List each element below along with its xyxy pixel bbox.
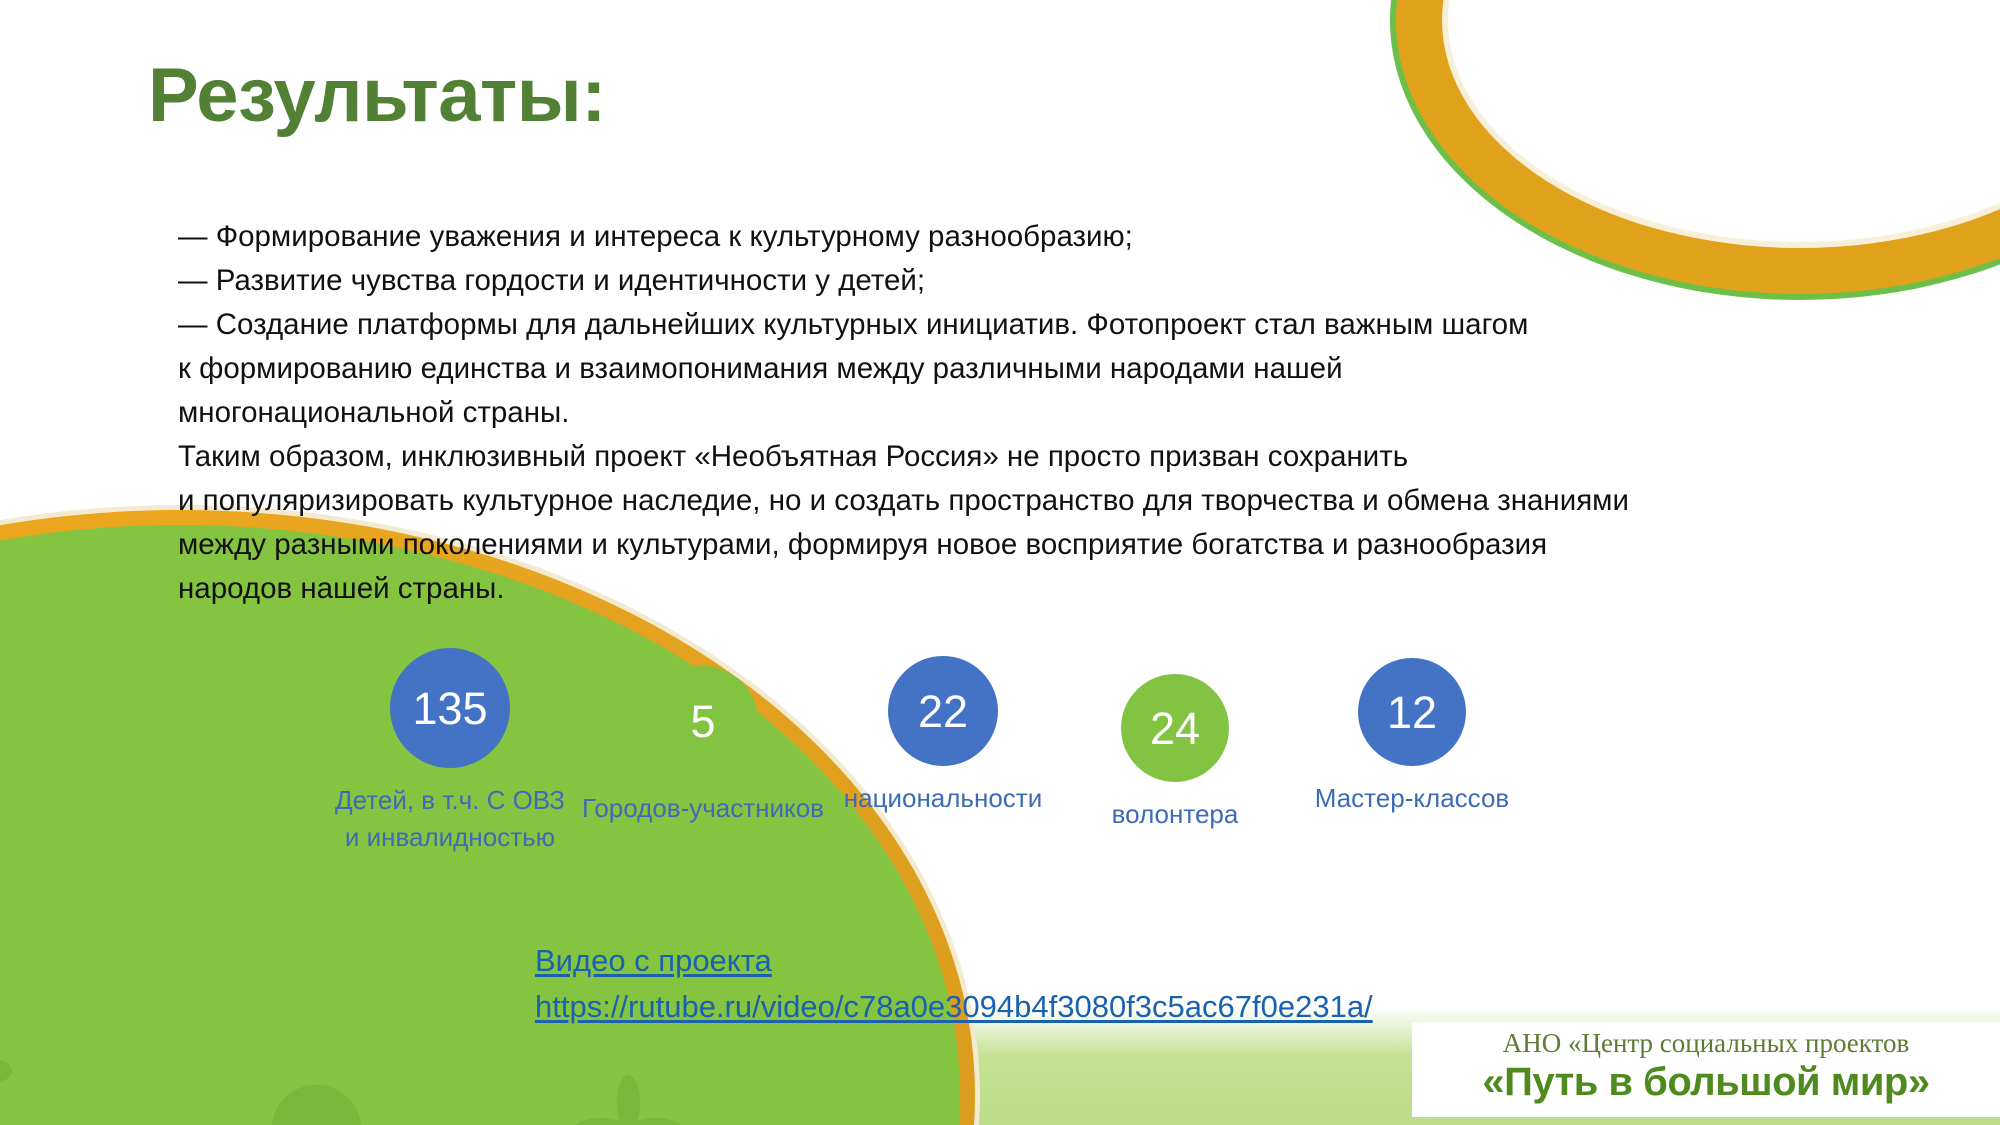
stats-row: 135Детей, в т.ч. С ОВЗи инвалидностью5Го… (330, 648, 1710, 908)
logo-project-name: «Путь в большой мир» (1432, 1060, 1980, 1105)
body-line: — Развитие чувства гордости и идентичнос… (178, 259, 1878, 303)
stat-label: Мастер-классов (1292, 780, 1532, 817)
body-line: Таким образом, инклюзивный проект «Необъ… (178, 435, 1878, 479)
stat-item: 22национальности (828, 656, 1058, 817)
video-url-link[interactable]: https://rutube.ru/video/c78a0e3094b4f308… (535, 984, 1373, 1030)
stat-label: Городов-участников (578, 790, 828, 827)
body-line: — Формирование уважения и интереса к кул… (178, 215, 1878, 259)
body-line: и популяризировать культурное наследие, … (178, 479, 1878, 523)
stat-item: 12Мастер-классов (1292, 658, 1532, 817)
stat-item: 5Городов-участников (578, 666, 828, 827)
arc-cream-ring (1442, 0, 2000, 248)
results-body-text: — Формирование уважения и интереса к кул… (178, 215, 1878, 611)
body-line: народов нашей страны. (178, 567, 1878, 611)
video-caption-link[interactable]: Видео с проекта (535, 938, 1373, 984)
stat-item: 24волонтера (1070, 674, 1280, 833)
stat-item: 135Детей, в т.ч. С ОВЗи инвалидностью (330, 648, 570, 856)
arc-white-fill (1448, 0, 2000, 242)
logo-org-name: АНО «Центр социальных проектов (1432, 1028, 1980, 1060)
body-line: — Создание платформы для дальнейших куль… (178, 303, 1878, 347)
body-line: между разными поколениями и культурами, … (178, 523, 1878, 567)
body-line: многонациональной страны. (178, 391, 1878, 435)
stat-value-bubble: 12 (1358, 658, 1466, 766)
stat-value-bubble: 24 (1121, 674, 1229, 782)
stat-value-bubble: 135 (390, 648, 510, 768)
video-link-block[interactable]: Видео с проекта https://rutube.ru/video/… (535, 938, 1373, 1030)
stat-label: волонтера (1070, 796, 1280, 833)
stat-label: Детей, в т.ч. С ОВЗи инвалидностью (330, 782, 570, 856)
stat-value-bubble: 5 (648, 666, 758, 776)
body-line: к формированию единства и взаимопонимани… (178, 347, 1878, 391)
page-title: Результаты: (148, 52, 606, 139)
organization-logo: АНО «Центр социальных проектов «Путь в б… (1412, 1022, 2000, 1117)
stat-value-bubble: 22 (888, 656, 998, 766)
stat-label: национальности (828, 780, 1058, 817)
slide-canvas: Результаты: — Формирование уважения и ин… (0, 0, 2000, 1125)
